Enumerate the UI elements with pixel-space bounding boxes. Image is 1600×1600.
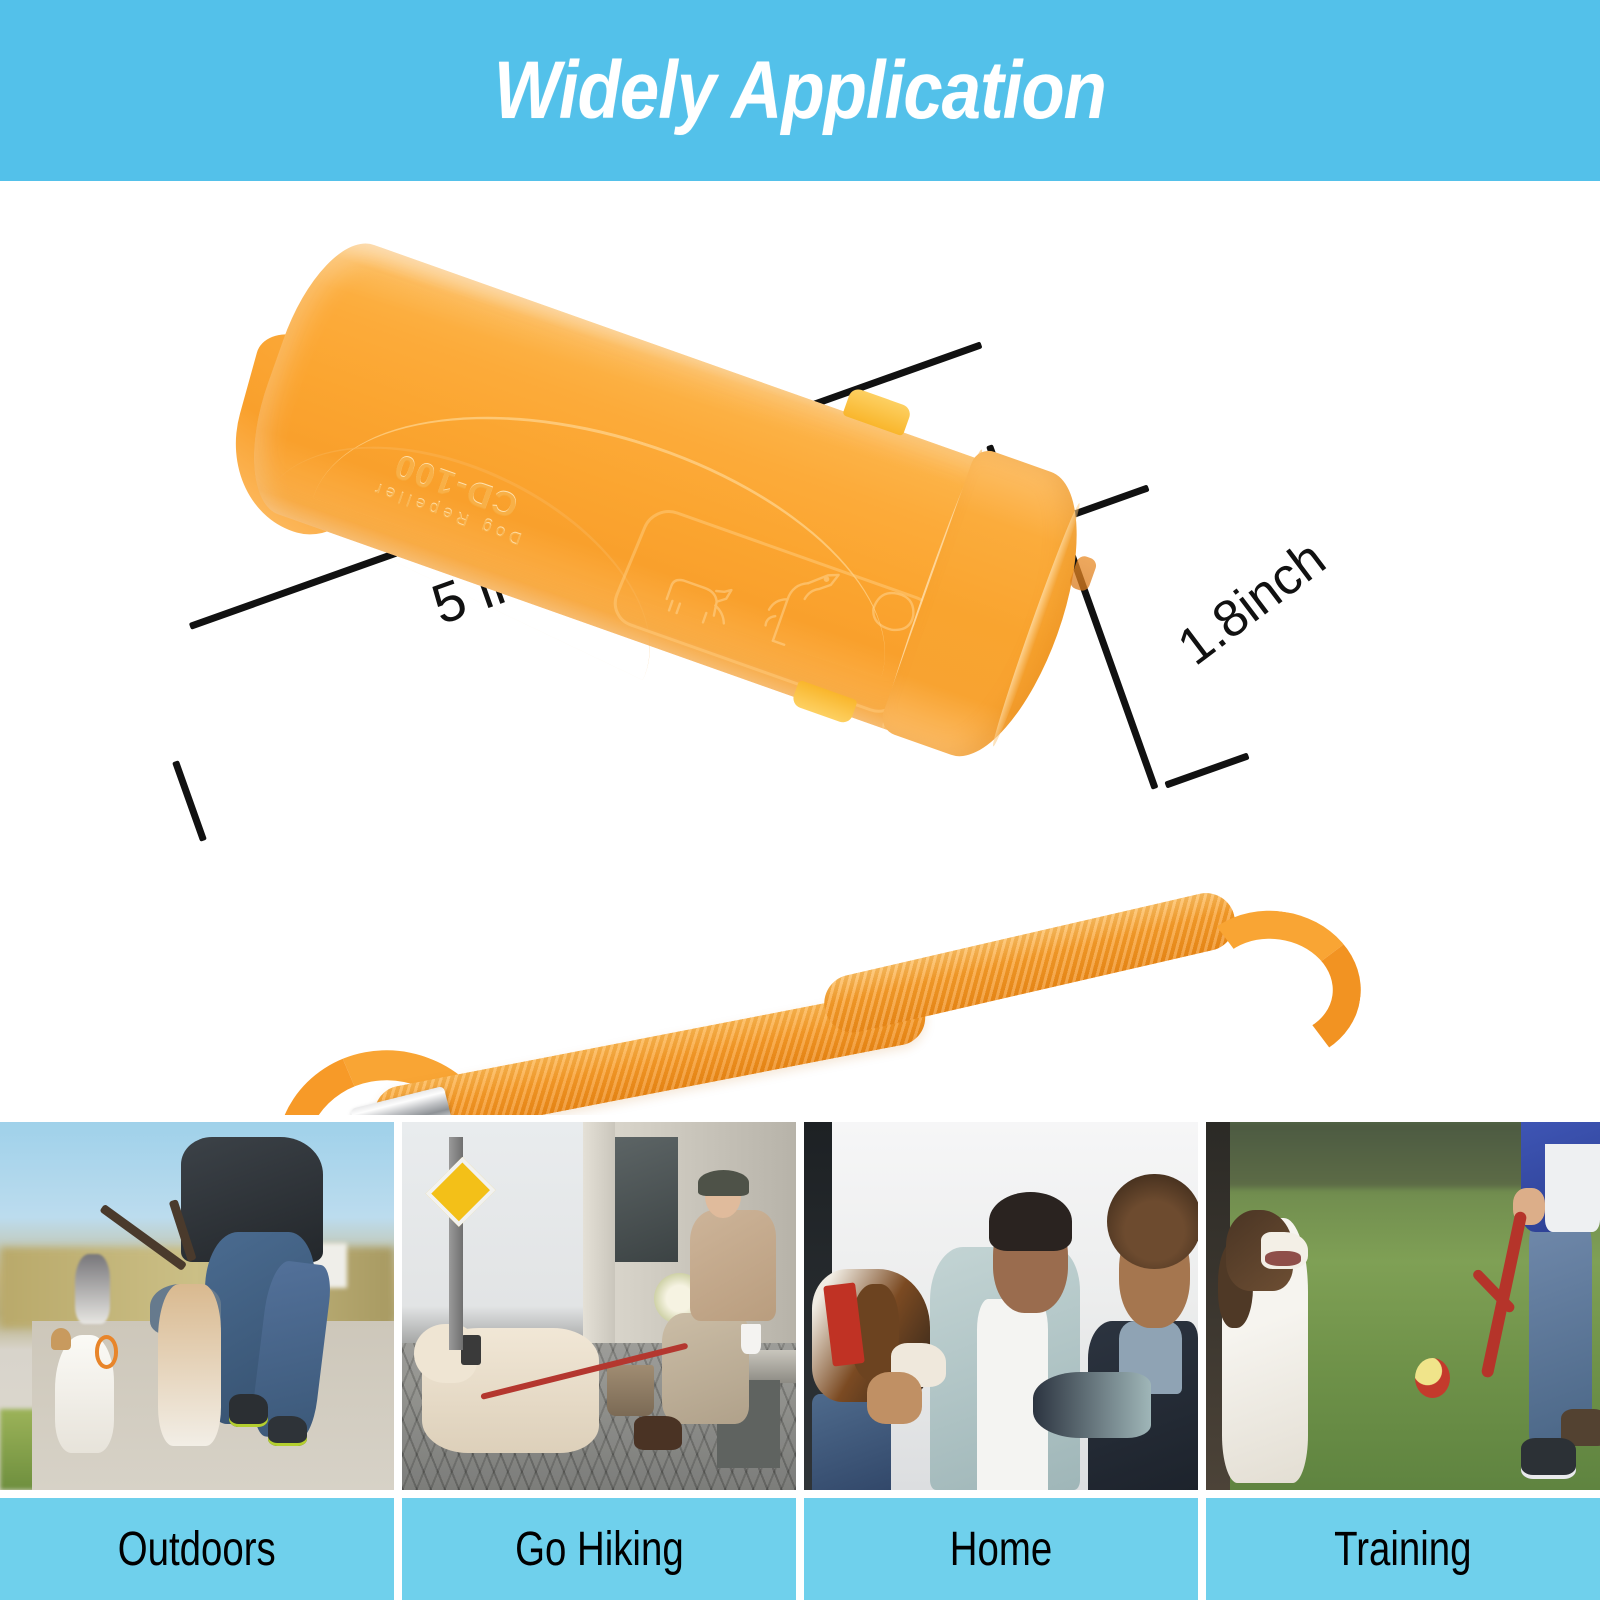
caption-home: Home [804, 1498, 1198, 1600]
caption-label: Outdoors [118, 1522, 276, 1577]
caption-label: Home [950, 1522, 1052, 1577]
caption-label: Go Hiking [515, 1522, 684, 1577]
page-title: Widely Application [494, 44, 1106, 138]
caption-outdoors: Outdoors [0, 1498, 394, 1600]
header-banner: Widely Application [0, 0, 1600, 181]
caption-go-hiking: Go Hiking [402, 1498, 796, 1600]
use-case-photo-strip [0, 1122, 1600, 1490]
use-case-photo-home [804, 1122, 1198, 1490]
caption-strip: Outdoors Go Hiking Home Training [0, 1498, 1600, 1600]
product-device: Dog Repeller CD-100 [222, 210, 1177, 812]
width-dimension-end-cap-bottom [1164, 752, 1249, 788]
wrist-lanyard [255, 871, 1315, 1115]
length-dimension-end-cap-left [172, 760, 207, 841]
use-case-photo-go-hiking [402, 1122, 796, 1490]
width-dimension-label: 1.8inch [1167, 529, 1337, 678]
use-case-photo-training [1206, 1122, 1600, 1490]
lanyard-strap-upper [818, 887, 1240, 1038]
use-case-photo-outdoors [0, 1122, 394, 1490]
caption-label: Training [1334, 1522, 1471, 1577]
caption-training: Training [1206, 1498, 1600, 1600]
product-hero-stage: 5 inch 1.8inch Dog Repeller CD-100 [0, 181, 1600, 1115]
